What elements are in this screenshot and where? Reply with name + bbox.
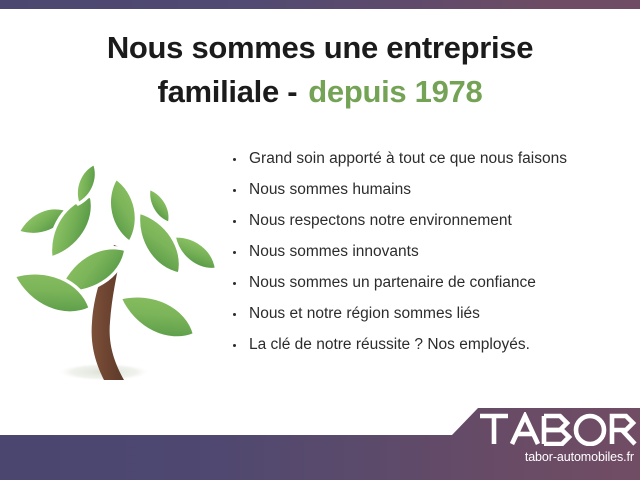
green-tree-illustration [8,140,220,392]
list-item: Grand soin apporté à tout ce que nous fa… [231,148,633,170]
headline-line-2-accent: depuis 1978 [308,74,482,109]
list-item: Nous sommes un partenaire de confiance [231,272,633,294]
leaf-9 [113,283,202,349]
headline-line-2-main: familiale - [158,74,298,109]
value-proposition-list: Grand soin apporté à tout ce que nous fa… [231,148,633,365]
list-item: Nous et notre région sommes liés [231,303,633,325]
list-item: Nous sommes humains [231,179,633,201]
tabor-logo [478,412,638,474]
list-item: Nous respectons notre environnement [231,210,633,232]
headline-line-1: Nous sommes une entreprise [107,30,533,65]
leaf-4 [70,160,102,207]
slide-canvas: Nous sommes une entreprise familiale -de… [0,0,640,480]
top-accent-bar [0,0,640,9]
list-item: La clé de notre réussite ? Nos employés. [231,334,633,356]
page-title: Nous sommes une entreprise familiale -de… [0,26,640,114]
brand-website: tabor-automobiles.fr [478,450,634,464]
list-item: Nous sommes innovants [231,241,633,263]
leaf-5 [104,175,143,245]
